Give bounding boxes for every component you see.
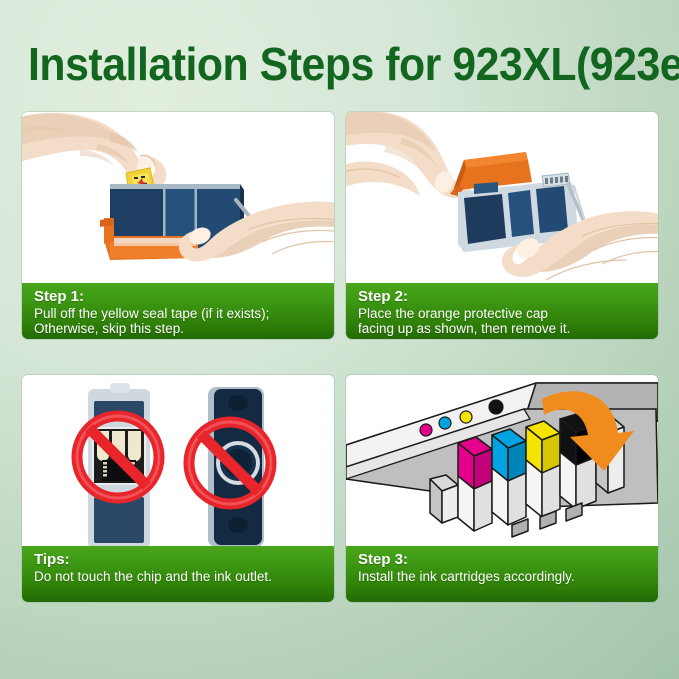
tips-card: Tips: Do not touch the chip and the ink … [22,375,334,602]
tips-label: Tips: Do not touch the chip and the ink … [22,546,334,602]
step-2-title: Step 2: [358,288,648,305]
step-2-card: Step 2: Place the orange protective cap … [346,112,658,339]
step-3-title: Step 3: [358,551,648,568]
step-3-line-1: Install the ink cartridges accordingly. [358,569,648,584]
tips-title: Tips: [34,551,324,568]
tips-line-1: Do not touch the chip and the ink outlet… [34,569,324,584]
step-1-label: Step 1: Pull off the yellow seal tape (i… [22,283,334,339]
step-3-card: Step 3: Install the ink cartridges accor… [346,375,658,602]
tips-body: Do not touch the chip and the ink outlet… [34,569,324,584]
step-1-illustration [22,112,334,283]
tips-illustration [22,375,334,546]
step-2-line-1: Place the orange protective cap [358,306,648,321]
step-3-label: Step 3: Install the ink cartridges accor… [346,546,658,602]
step-2-label: Step 2: Place the orange protective cap … [346,283,658,339]
page-title: Installation Steps for 923XL(923e) [28,34,614,94]
step-3-body: Install the ink cartridges accordingly. [358,569,648,584]
step-1-title: Step 1: [34,288,324,305]
step-1-line-1: Pull off the yellow seal tape (if it exi… [34,306,324,321]
step-2-body: Place the orange protective cap facing u… [358,306,648,336]
step-3-illustration [346,375,658,546]
step-1-body: Pull off the yellow seal tape (if it exi… [34,306,324,336]
step-1-line-2: Otherwise, skip this step. [34,321,324,336]
step-1-card: Step 1: Pull off the yellow seal tape (i… [22,112,334,339]
step-2-line-2: facing up as shown, then remove it. [358,321,648,336]
step-2-illustration [346,112,658,283]
installation-steps-page: Installation Steps for 923XL(923e) [0,0,679,679]
